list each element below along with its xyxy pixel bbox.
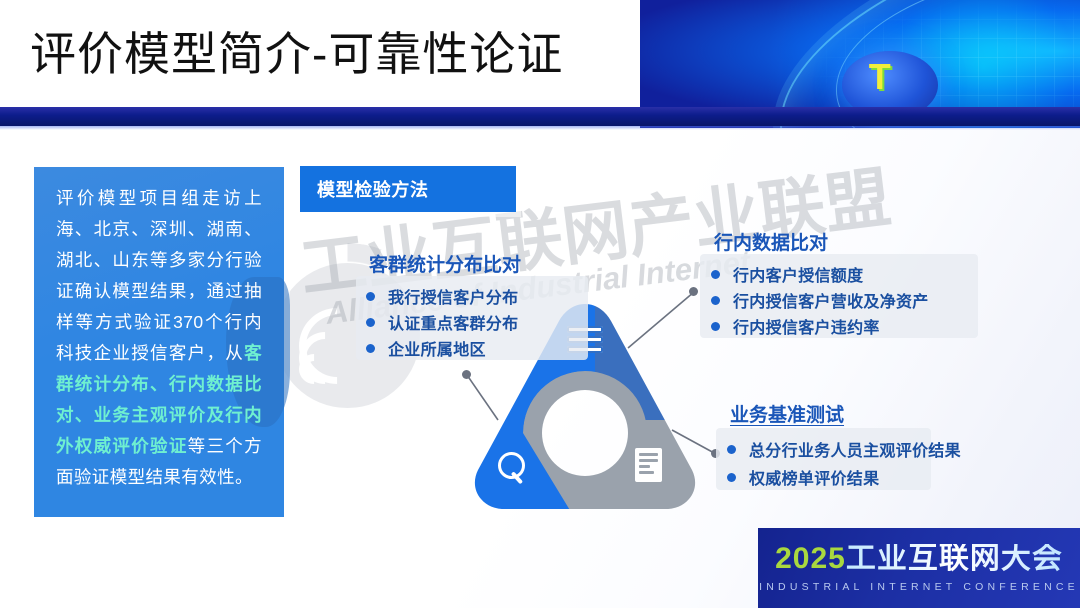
list-item: 我行授信客户分布 (366, 284, 518, 308)
list-item-label: 行内授信客户营收及净资产 (733, 288, 929, 312)
conference-name-cn: 工业互联网大会 (846, 544, 1063, 574)
search-icon (498, 452, 532, 486)
bullet-icon (711, 322, 720, 331)
summary-panel: 评价模型项目组走访上海、北京、深圳、湖南、湖北、山东等多家分行验证确认模型结果，… (34, 167, 284, 517)
list-item: 认证重点客群分布 (366, 310, 518, 334)
bullet-icon (727, 473, 736, 482)
connector-dot-a (462, 370, 471, 379)
list-item: 总分行业务人员主观评价结果 (727, 437, 961, 461)
page-title: 评价模型简介-可靠性论证 (30, 18, 563, 84)
list-item-label: 权威榜单评价结果 (749, 465, 879, 489)
list-item-label: 总分行业务人员主观评价结果 (749, 437, 961, 461)
method-label-chip: 模型检验方法 (300, 166, 516, 212)
list-item: 权威榜单评价结果 (727, 465, 879, 489)
conference-logo-main: 2025 工业互联网大会 (775, 544, 1063, 574)
header-t-logo: T (869, 59, 887, 95)
conference-logo: 2025 工业互联网大会 INDUSTRIAL INTERNET CONFERE… (758, 528, 1080, 608)
bullet-icon (727, 445, 736, 454)
document-icon (635, 448, 662, 482)
list-item-label: 认证重点客群分布 (388, 310, 518, 334)
group-title-customer-distribution: 客群统计分布比对 (369, 250, 521, 277)
bullet-icon (366, 318, 375, 327)
summary-text-before: 评价模型项目组走访上海、北京、深圳、湖南、湖北、山东等多家分行验证确认模型结果，… (56, 188, 262, 363)
slide-canvas: T 评价模型简介-可靠性论证 工业互联网产业联盟 Alliance of Ind… (0, 0, 1080, 608)
bullet-icon (711, 296, 720, 305)
method-label-text: 模型检验方法 (317, 176, 429, 202)
connector-dot-b (689, 287, 698, 296)
list-item: 行内授信客户营收及净资产 (711, 288, 929, 312)
header-divider-glow (0, 126, 1080, 130)
list-item-label: 企业所属地区 (388, 336, 486, 360)
list-item-label: 我行授信客户分布 (388, 284, 518, 308)
conference-name-en: INDUSTRIAL INTERNET CONFERENCE (759, 581, 1079, 593)
group-title-business-benchmark: 业务基准测试 (730, 400, 844, 427)
bullet-icon (366, 344, 375, 353)
bullet-icon (711, 270, 720, 279)
summary-paragraph: 评价模型项目组走访上海、北京、深圳、湖南、湖北、山东等多家分行验证确认模型结果，… (56, 183, 262, 493)
list-item: 行内授信客户违约率 (711, 314, 880, 338)
list-item: 企业所属地区 (366, 336, 486, 360)
list-item-label: 行内客户授信额度 (733, 262, 863, 286)
group-title-internal-data: 行内数据比对 (714, 228, 828, 255)
list-item-label: 行内授信客户违约率 (733, 314, 880, 338)
header-divider-band (0, 107, 1080, 126)
bullet-icon (366, 292, 375, 301)
list-item: 行内客户授信额度 (711, 262, 863, 286)
conference-year: 2025 (775, 544, 846, 574)
